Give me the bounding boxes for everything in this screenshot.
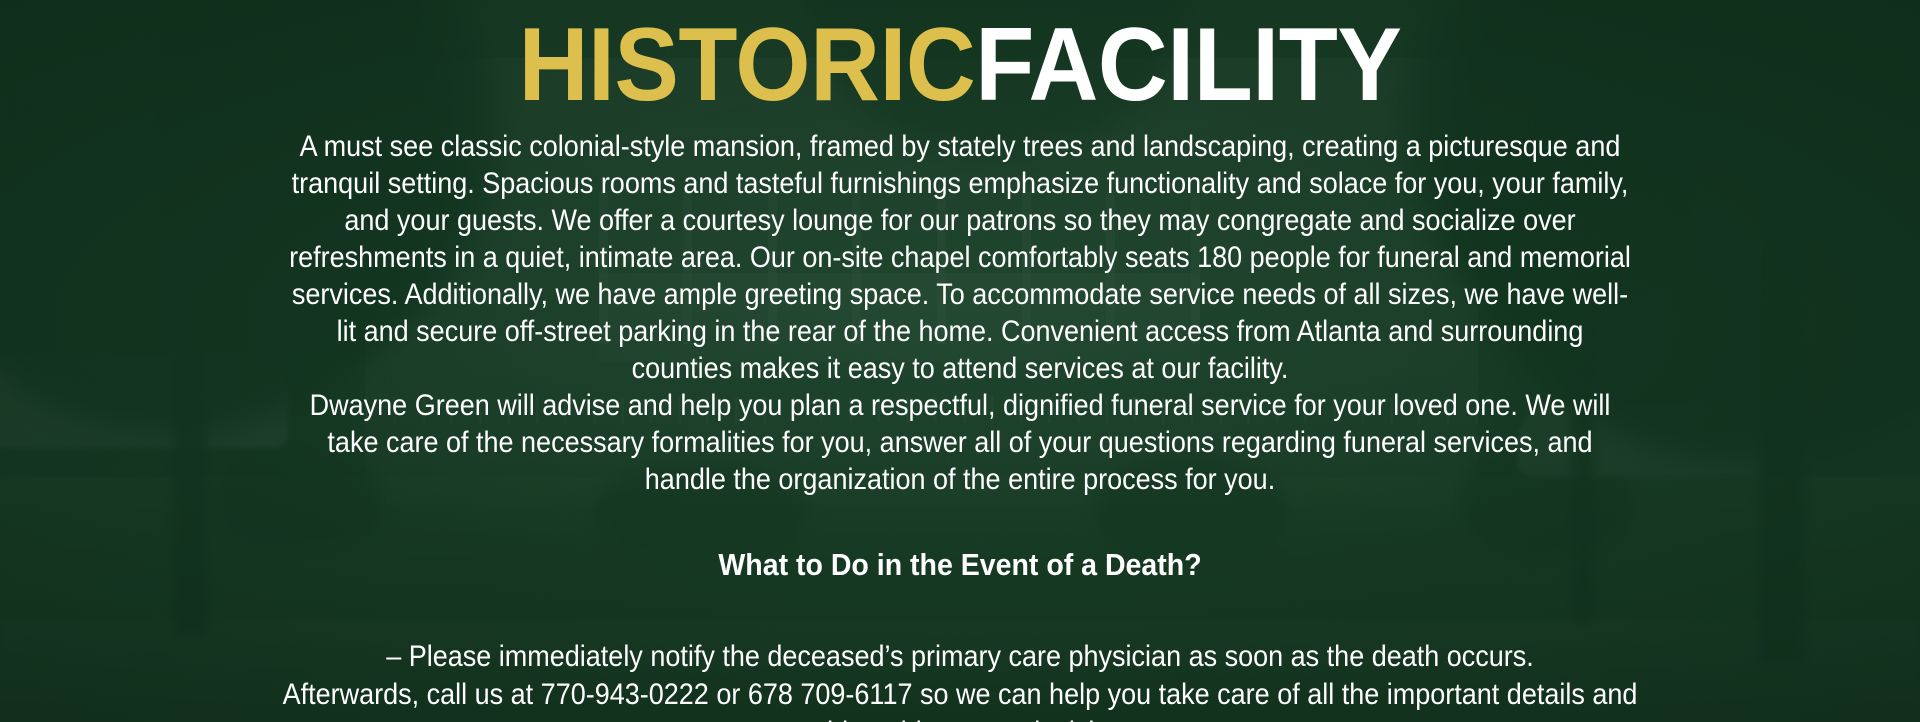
hero-content: HISTORICFACILITY A must see classic colo… [0, 0, 1920, 722]
instruction-notify-physician: – Please immediately notify the deceased… [258, 638, 1662, 676]
historic-facility-hero-banner: HISTORICFACILITY A must see classic colo… [0, 0, 1920, 722]
next-steps-instructions: – Please immediately notify the deceased… [258, 638, 1662, 722]
page-title: HISTORICFACILITY [104, 12, 1815, 118]
section-subheading: What to Do in the Event of a Death? [114, 546, 1807, 584]
page-title-gold-word: HISTORIC [519, 7, 976, 123]
instruction-call-us: Afterwards, call us at 770-943-0222 or 6… [258, 676, 1662, 722]
facility-description: A must see classic colonial-style mansio… [285, 128, 1635, 498]
page-title-white-word: FACILITY [975, 7, 1401, 123]
description-paragraph-1: A must see classic colonial-style mansio… [285, 128, 1635, 387]
description-paragraph-2: Dwayne Green will advise and help you pl… [285, 387, 1635, 498]
